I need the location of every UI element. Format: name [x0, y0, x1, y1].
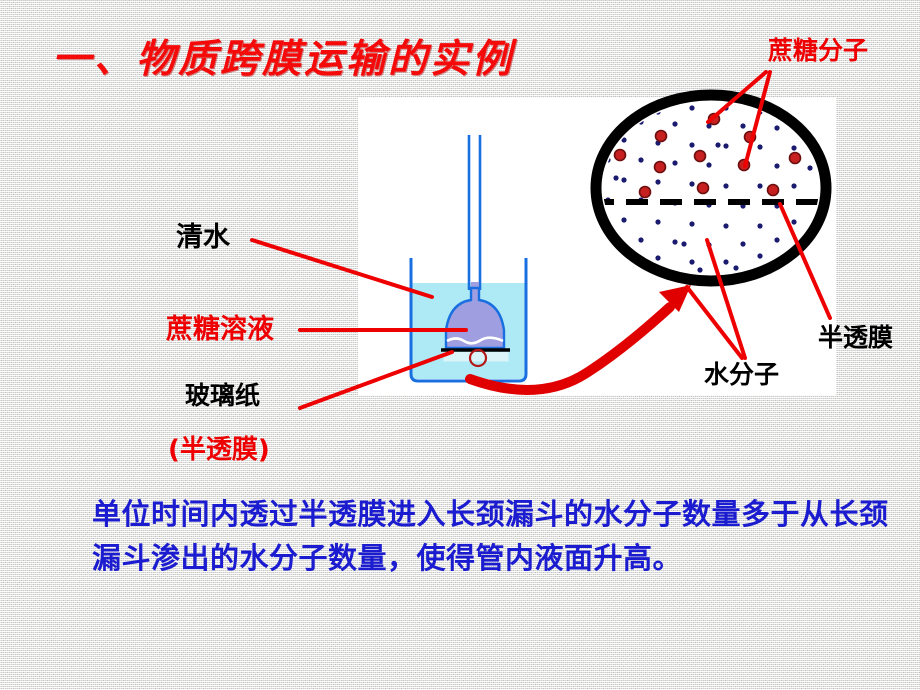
label-water-molecule: 水分子 — [704, 362, 779, 387]
slide-canvas: 一、物质跨膜运输的实例 — [0, 0, 920, 690]
label-semipermeable-membrane: 半透膜 — [818, 325, 893, 350]
page-title: 一、物质跨膜运输的实例 — [52, 28, 514, 84]
label-clear-water: 清水 — [176, 224, 230, 251]
label-semipermeable-membrane-paren: (半透膜) — [168, 437, 270, 463]
figure-white-panel-left — [358, 98, 556, 395]
label-cellophane: 玻璃纸 — [185, 383, 260, 408]
label-sucrose-molecule: 蔗糖分子 — [768, 38, 868, 63]
label-sucrose-solution: 蔗糖溶液 — [166, 316, 274, 343]
explanation-paragraph: 单位时间内透过半透膜进入长颈漏斗的水分子数量多于从长颈漏斗渗出的水分子数量，使得… — [92, 492, 892, 580]
